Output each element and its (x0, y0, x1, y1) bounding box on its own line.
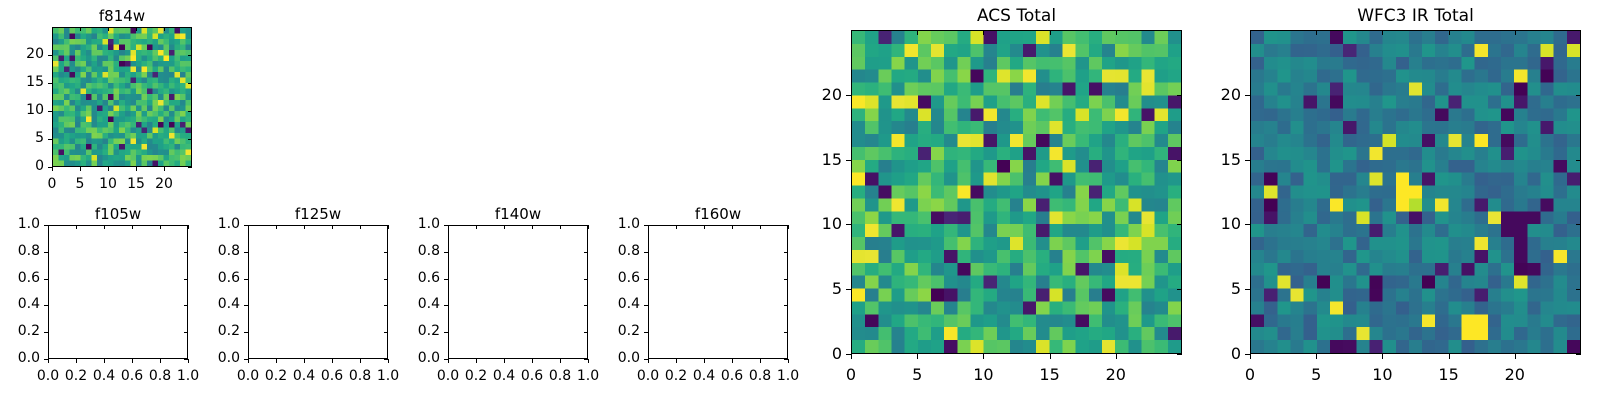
y-tick-label-wfc3_ir_total-4: 20 (1151, 85, 1241, 104)
x-tick-wfc3_ir_total-0 (1250, 354, 1251, 359)
y-tick-label-wfc3_ir_total-1: 5 (1151, 279, 1241, 298)
x-tick-top-wfc3_ir_total-4 (1515, 30, 1516, 35)
heatmap-image-wfc3-ir-total[interactable] (1251, 31, 1580, 353)
x-tick-wfc3_ir_total-2 (1382, 354, 1383, 359)
y-tick-right-wfc3_ir_total-2 (1576, 224, 1581, 225)
x-tick-label-wfc3_ir_total-4: 20 (1475, 365, 1555, 384)
y-tick-label-wfc3_ir_total-3: 15 (1151, 150, 1241, 169)
y-tick-right-wfc3_ir_total-1 (1576, 289, 1581, 290)
y-tick-wfc3_ir_total-4 (1245, 95, 1250, 96)
y-tick-wfc3_ir_total-0 (1245, 354, 1250, 355)
x-tick-top-wfc3_ir_total-3 (1449, 30, 1450, 35)
y-tick-wfc3_ir_total-2 (1245, 224, 1250, 225)
y-tick-right-wfc3_ir_total-3 (1576, 160, 1581, 161)
panel-title-wfc3-ir-total: WFC3 IR Total (1250, 6, 1581, 26)
x-tick-top-wfc3_ir_total-0 (1250, 30, 1251, 35)
y-tick-label-wfc3_ir_total-2: 10 (1151, 214, 1241, 233)
y-tick-wfc3_ir_total-1 (1245, 289, 1250, 290)
x-tick-top-wfc3_ir_total-2 (1382, 30, 1383, 35)
axes-wfc3-ir-total[interactable] (1250, 30, 1581, 354)
x-tick-wfc3_ir_total-1 (1316, 354, 1317, 359)
x-tick-wfc3_ir_total-3 (1449, 354, 1450, 359)
matplotlib-figure: f814w 0510152005101520 f105w 0.00.20.40.… (0, 0, 1600, 400)
x-tick-top-wfc3_ir_total-1 (1316, 30, 1317, 35)
y-tick-right-wfc3_ir_total-0 (1576, 354, 1581, 355)
y-tick-wfc3_ir_total-3 (1245, 160, 1250, 161)
y-tick-label-wfc3_ir_total-0: 0 (1151, 344, 1241, 363)
x-tick-wfc3_ir_total-4 (1515, 354, 1516, 359)
y-tick-right-wfc3_ir_total-4 (1576, 95, 1581, 96)
panel-wfc3-ir-total: WFC3 IR Total 0510152005101520 (0, 0, 1600, 400)
